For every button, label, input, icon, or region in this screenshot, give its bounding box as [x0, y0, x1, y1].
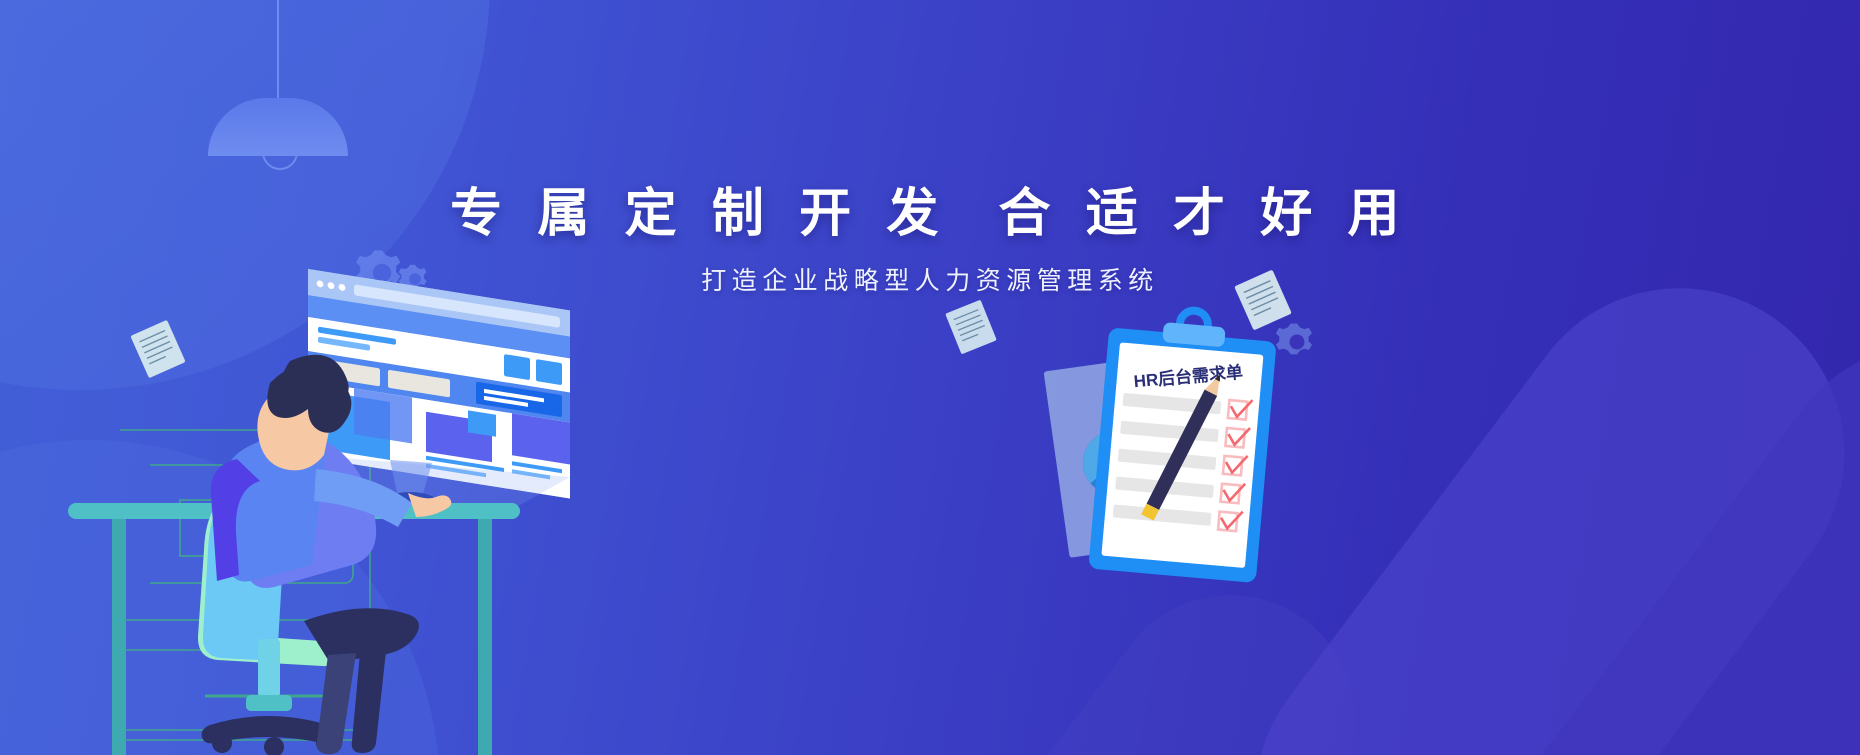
- document-icon: [945, 299, 997, 354]
- hero-copy: 专 属 定 制 开 发 合 适 才 好 用 打造企业战略型人力资源管理系统: [0, 0, 1860, 297]
- diagonal-shape-b: [1445, 277, 1860, 755]
- page-subtitle: 打造企业战略型人力资源管理系统: [0, 243, 1860, 297]
- hero-banner: HR后台需求单: [0, 0, 1860, 755]
- person-leg-back: [352, 651, 386, 753]
- person-leg-front: [317, 653, 356, 754]
- clipboard: HR后台需求单: [1088, 303, 1279, 583]
- clipboard-illustration: HR后台需求单: [1000, 290, 1320, 620]
- page-title: 专 属 定 制 开 发 合 适 才 好 用: [0, 0, 1860, 243]
- person-at-desk-illustration: [60, 255, 580, 755]
